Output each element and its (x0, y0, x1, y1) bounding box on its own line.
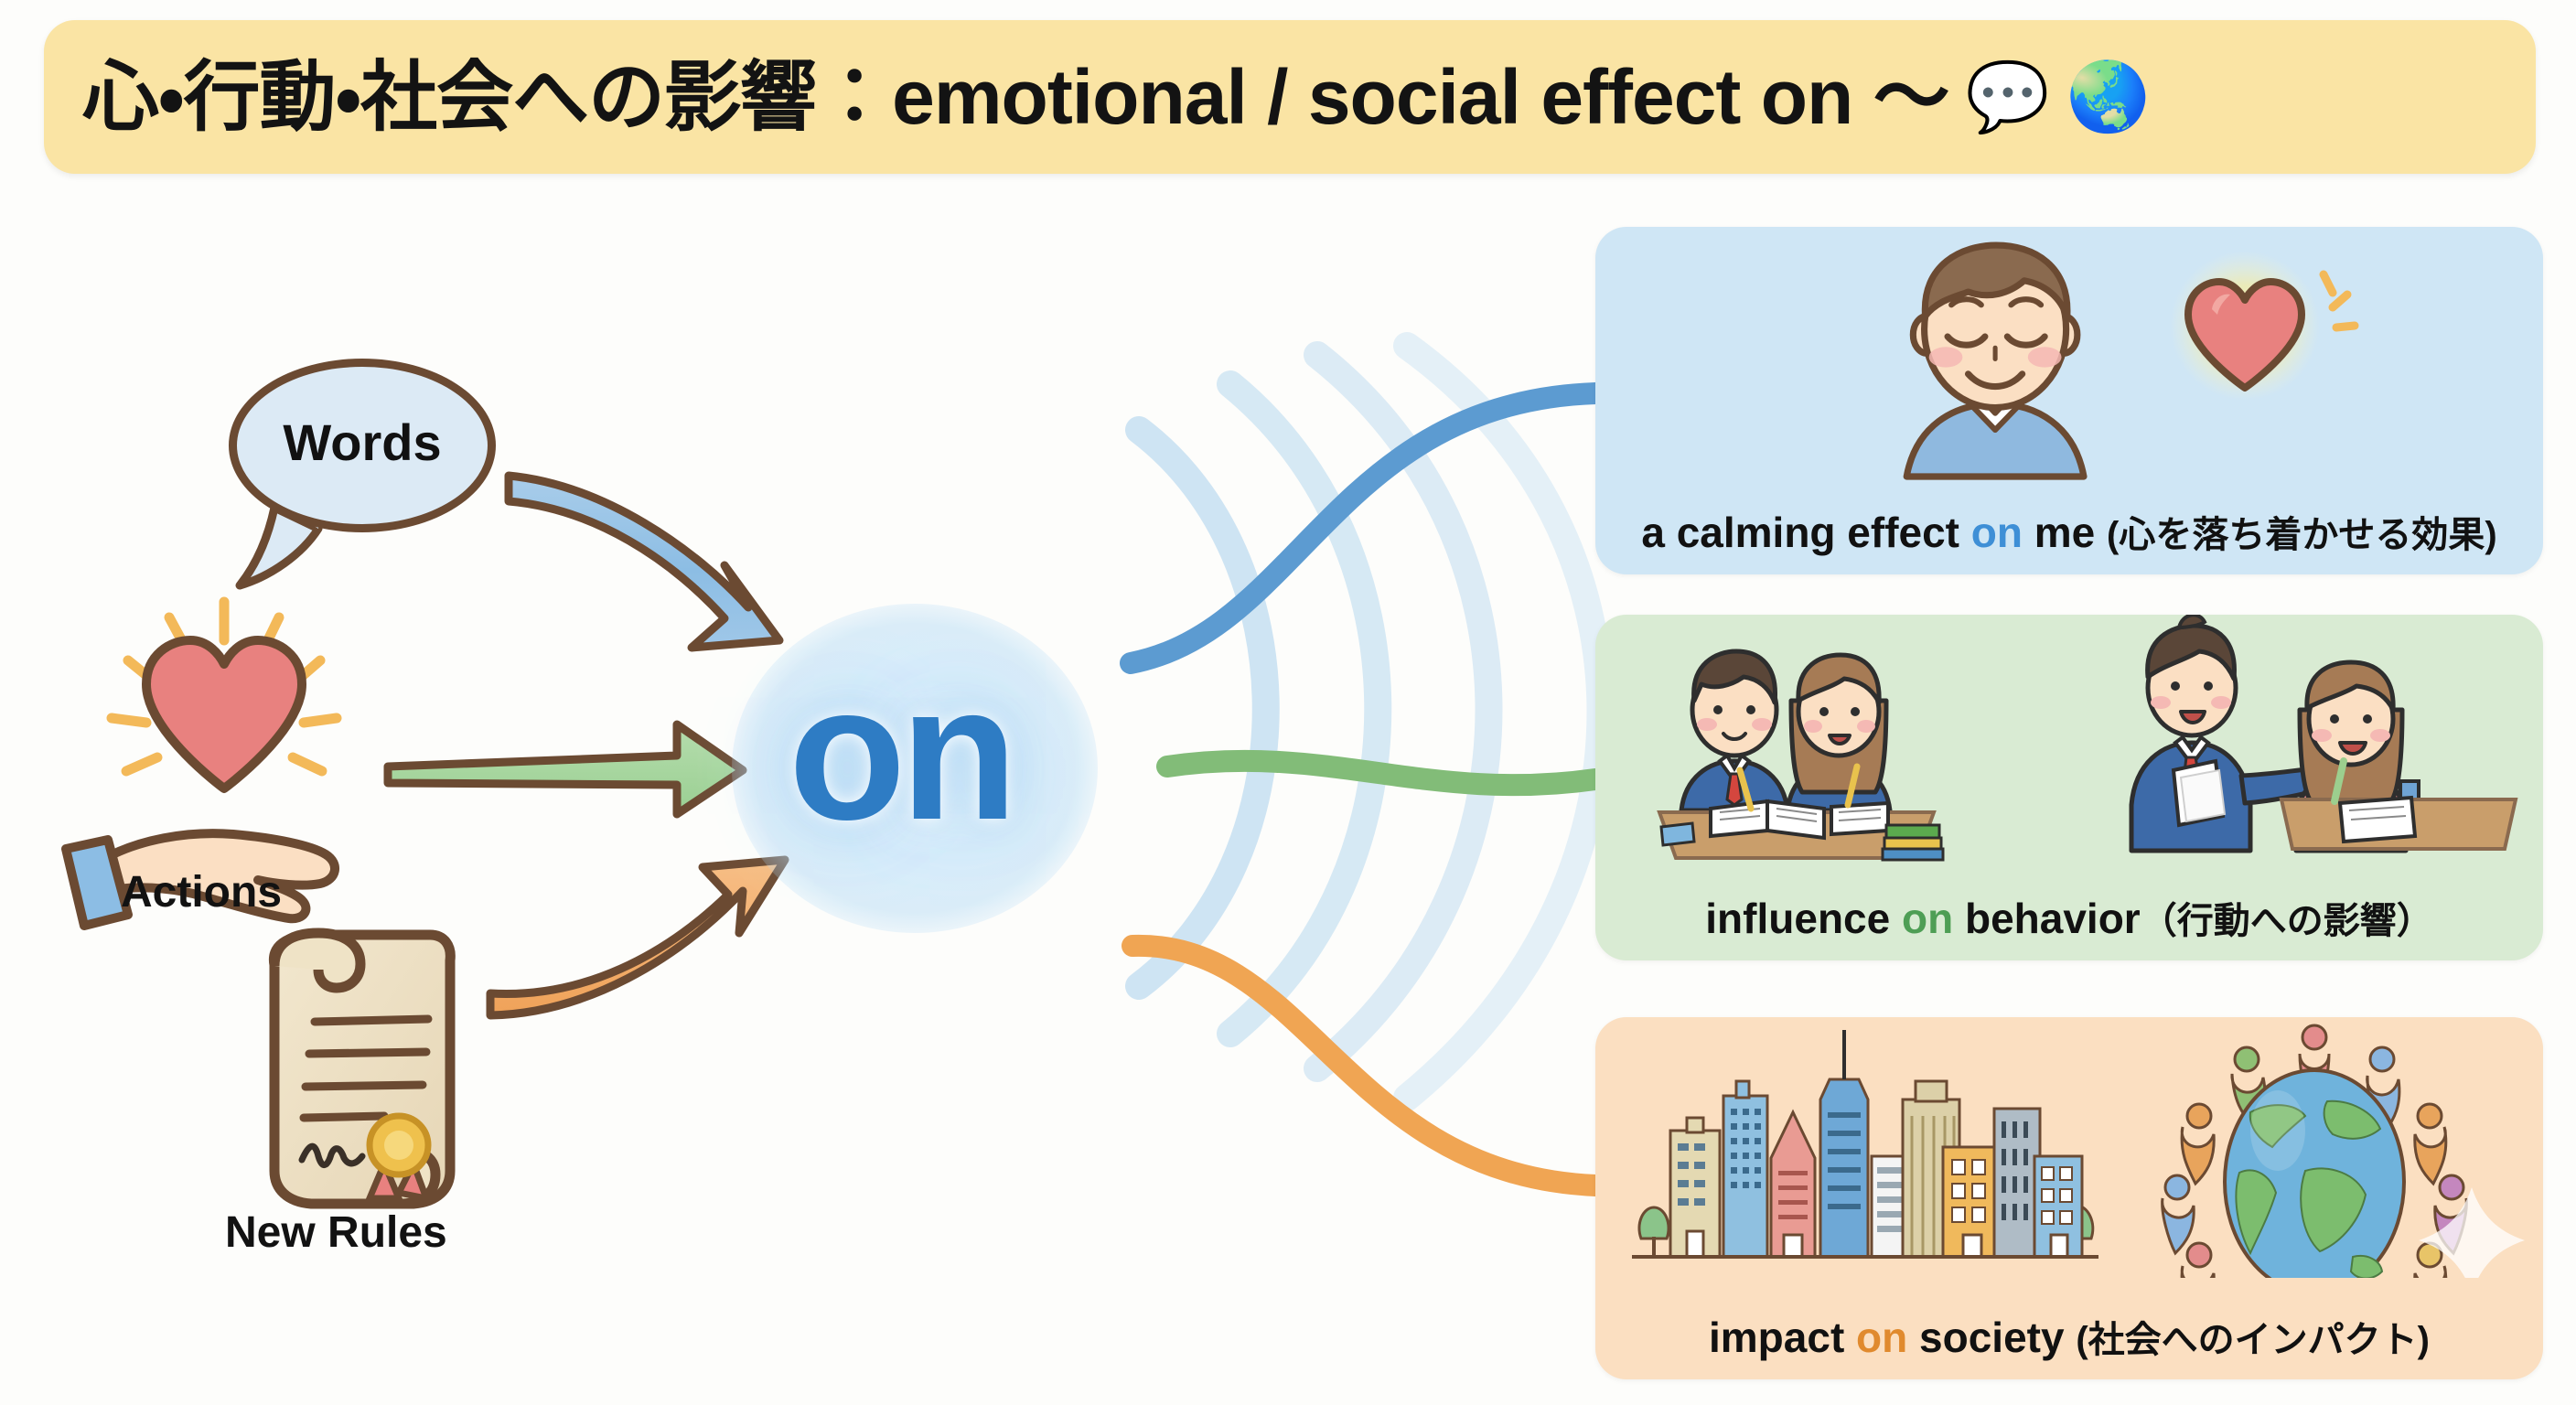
arrow-newrules-to-on (490, 860, 785, 1015)
scroll-document-icon (274, 933, 450, 1204)
city-skyline-icon (1632, 1030, 2098, 1257)
card-impact-society[interactable]: impact on society (社会へのインパクト) (1595, 1017, 2543, 1379)
card-2-caption-jp: （行動への影響） (2141, 901, 2433, 941)
card-1-caption-jp: (心を落ち着かせる効果) (2107, 515, 2497, 555)
speech-bubble-icon: 💬 (1966, 63, 2050, 131)
header-banner: 心・行動・社会への影響：emotional / social effect on… (44, 20, 2536, 174)
card-influence-behavior[interactable]: influence on behavior（行動への影響） (1595, 615, 2543, 960)
card-3-caption-pre: impact (1709, 1314, 1856, 1361)
card-1-caption-on: on (1971, 509, 2023, 556)
card-2-caption: influence on behavior（行動への影響） (1595, 891, 2543, 944)
words-speech-bubble: Words (229, 359, 496, 532)
card-2-caption-pre: influence (1705, 895, 1902, 942)
connector-to-card-2 (1167, 761, 1595, 785)
calm-boy-with-heart-illustration (1595, 227, 2543, 488)
card-3-caption-on: on (1856, 1314, 1907, 1361)
card-calming-effect[interactable]: a calming effect on me (心を落ち着かせる効果) (1595, 227, 2543, 574)
card-3-caption-post: society (1907, 1314, 2076, 1361)
card-2-caption-on: on (1902, 895, 1953, 942)
actions-label: Actions (121, 867, 282, 917)
card-2-caption-post: behavior (1953, 895, 2141, 942)
arrow-words-to-on (509, 476, 779, 648)
card-3-caption: impact on society (社会へのインパクト) (1595, 1310, 2543, 1363)
card-1-caption-post: me (2023, 509, 2107, 556)
infographic-canvas: 心・行動・社会への影響：emotional / social effect on… (0, 0, 2576, 1405)
words-label: Words (283, 413, 441, 472)
connector-to-card-3 (1132, 946, 1595, 1185)
students-and-teacher-illustration (1595, 615, 2543, 875)
connector-to-card-1 (1131, 393, 1595, 663)
arrow-actions-to-on (388, 724, 743, 814)
card-1-caption-pre: a calming effect (1641, 509, 1970, 556)
globe-with-people-icon (2163, 1025, 2467, 1278)
globe-icon: 🌏 (2066, 63, 2151, 131)
page-title: 心・行動・社会への影響：emotional / social effect on… (82, 59, 1949, 135)
center-keyword-on: on (789, 657, 1013, 849)
new-rules-label: New Rules (225, 1207, 447, 1258)
city-skyline-and-globe-with-people-illustration (1595, 1017, 2543, 1278)
card-3-caption-jp: (社会へのインパクト) (2076, 1320, 2430, 1360)
card-1-caption: a calming effect on me (心を落ち着かせる効果) (1595, 505, 2543, 558)
ripple-waves-icon (1139, 346, 1601, 1098)
